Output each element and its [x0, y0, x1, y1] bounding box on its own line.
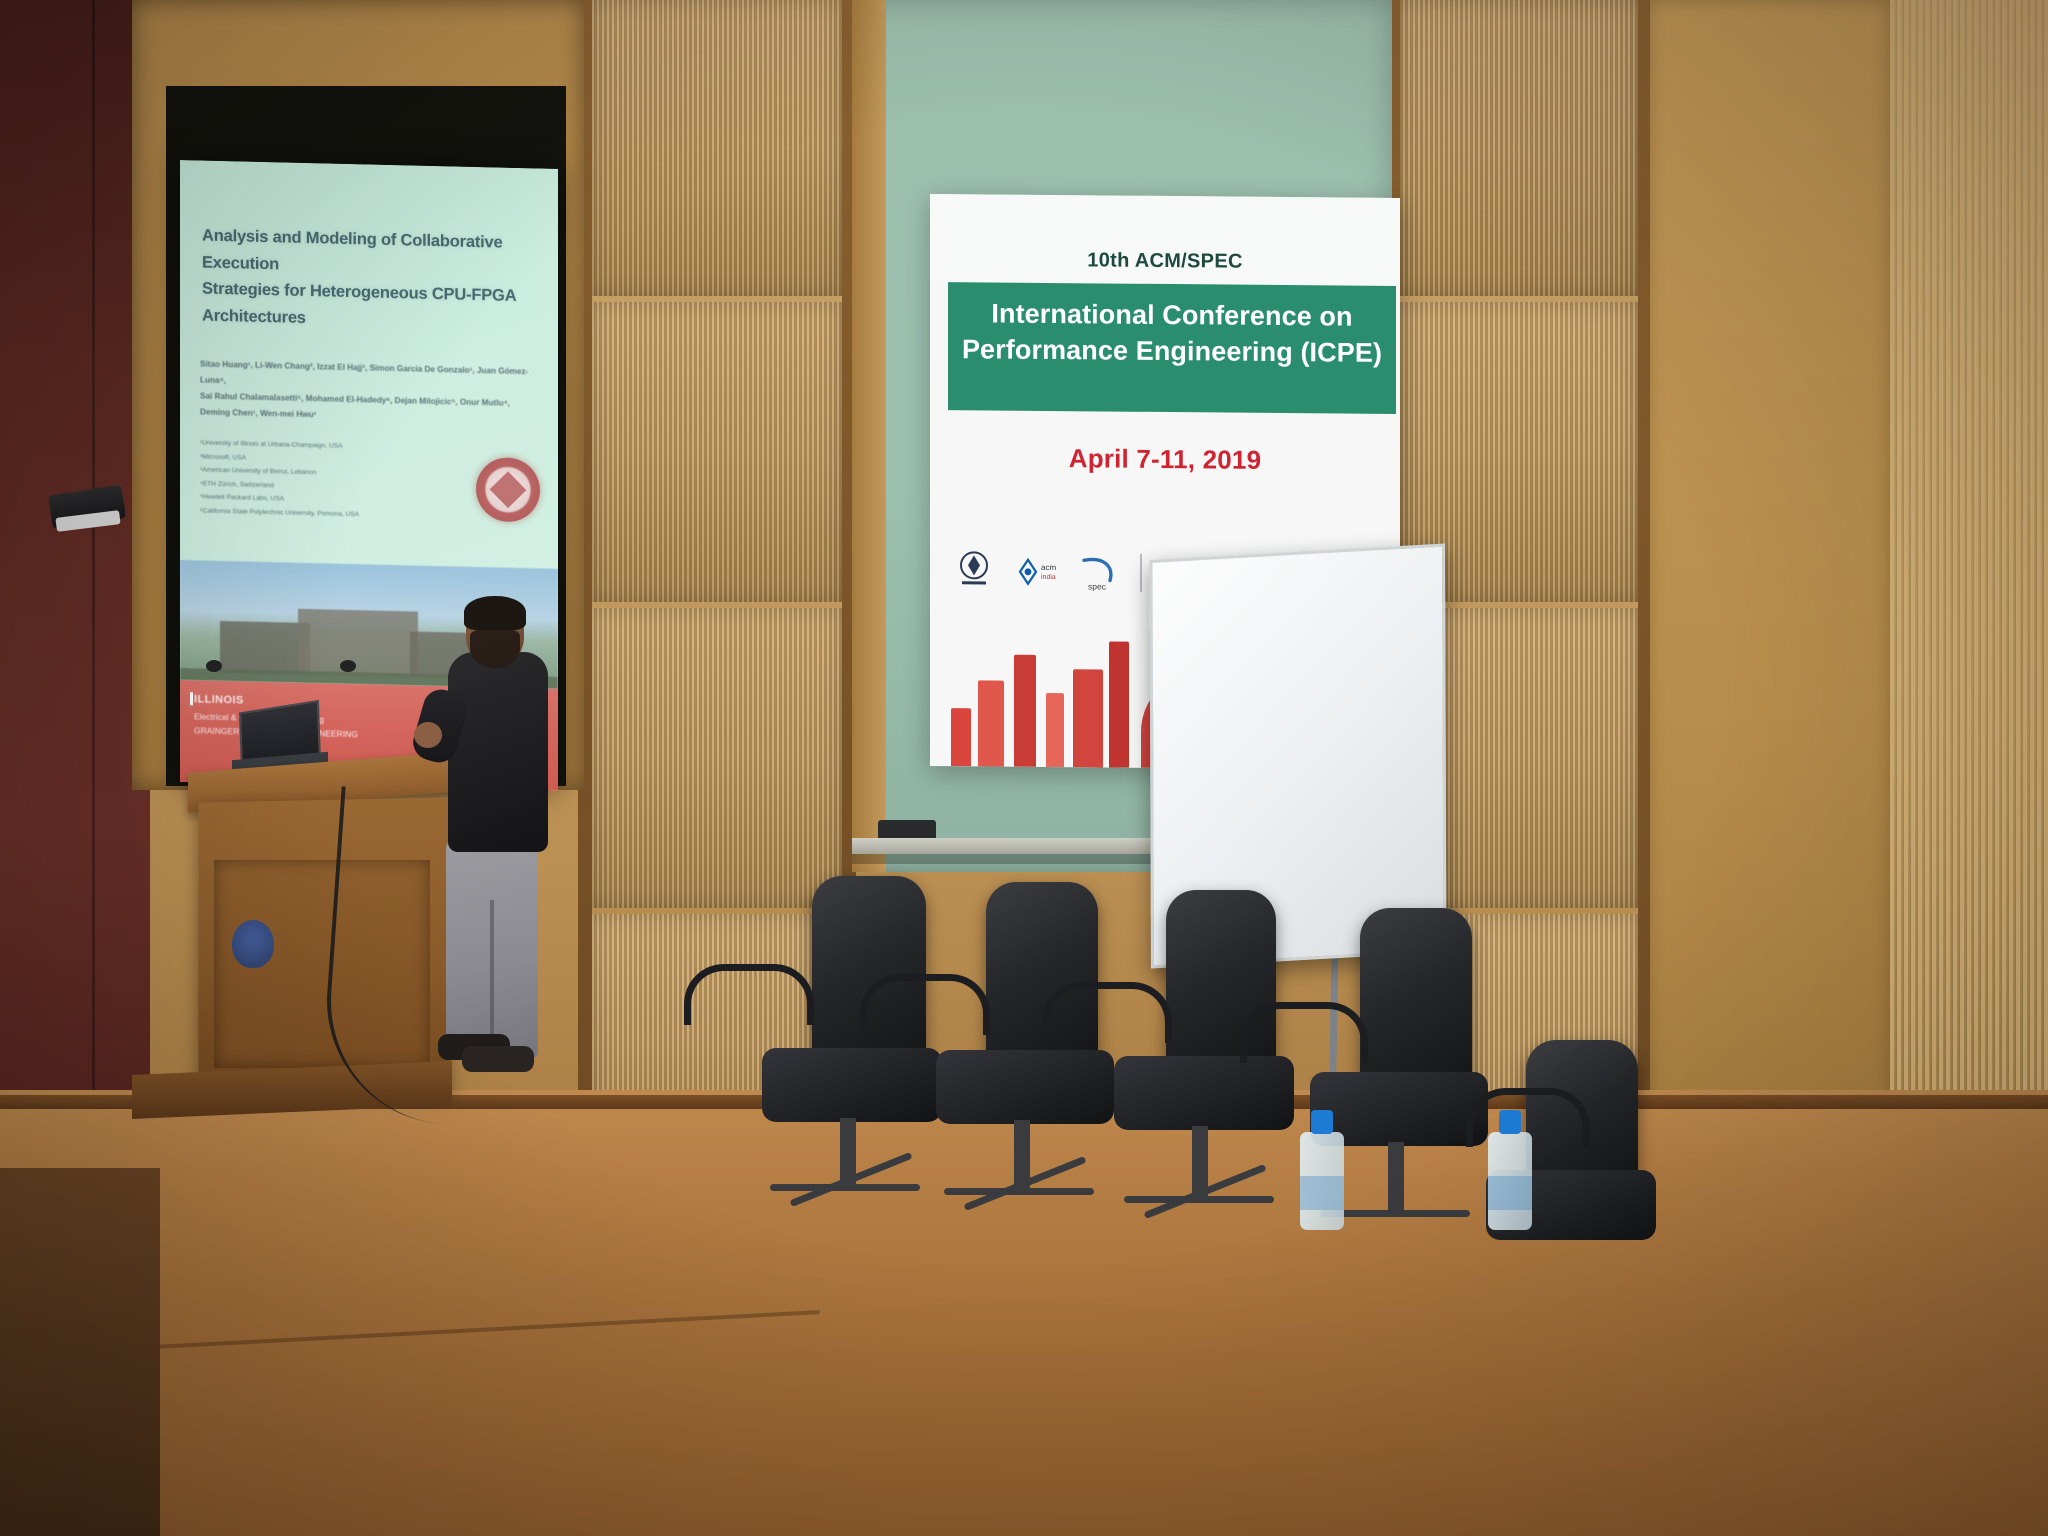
speaker-torso: [448, 652, 548, 852]
banner-title-band: International Conference on Performance …: [948, 282, 1396, 414]
wall-panel: [592, 608, 842, 908]
bottle-label: [1300, 1176, 1344, 1210]
slide-author-list: Sitao Huang¹, Li-Wen Chang², Izzat El Ha…: [200, 356, 545, 428]
speaker-shoe: [462, 1046, 534, 1072]
footer-accent-bar: [190, 692, 193, 705]
wall-panel-gap: [1638, 0, 1650, 1176]
svg-text:spec: spec: [1088, 581, 1107, 591]
bottle-cap: [1311, 1110, 1333, 1134]
water-bottle[interactable]: [1300, 1110, 1344, 1230]
banner-eyebrow: 10th ACM/SPEC: [930, 248, 1400, 275]
water-bottle[interactable]: [1488, 1110, 1532, 1230]
acm-india-logo-icon: acm india: [1008, 552, 1062, 592]
svg-text:acm: acm: [1041, 563, 1056, 572]
stage-side: [0, 1168, 160, 1536]
auditorium-scene: Analysis and Modeling of Collaborative E…: [0, 0, 2048, 1536]
banner-title: International Conference on Performance …: [948, 296, 1396, 371]
banner-frame: [852, 0, 886, 872]
wall-panel: [1398, 0, 1638, 296]
banner-title-line: Performance Engineering (ICPE): [948, 332, 1396, 372]
svg-text:india: india: [1041, 574, 1056, 581]
speaker-hand: [414, 722, 442, 748]
banner-date: April 7-11, 2019: [930, 442, 1400, 477]
microphone-head: [340, 660, 356, 672]
right-ribbed-wall: [1890, 0, 2048, 1200]
institution-emblem-icon: [232, 920, 274, 968]
spec-logo-icon: spec: [1078, 552, 1124, 592]
banner-title-line: International Conference on: [948, 296, 1396, 336]
bottle-label: [1488, 1176, 1532, 1210]
wall-panel: [592, 0, 842, 296]
slide-title: Analysis and Modeling of Collaborative E…: [202, 223, 532, 338]
university-seal-icon: [476, 457, 540, 523]
microphone-head: [206, 660, 222, 672]
iit-logo-icon: [956, 549, 992, 593]
speaker-beard: [470, 630, 520, 668]
banner-top-area: 10th ACM/SPEC: [930, 194, 1400, 286]
bottle-cap: [1499, 1110, 1521, 1134]
slide-title-line: Analysis and Modeling of Collaborative E…: [202, 223, 532, 284]
wall-seam: [92, 0, 95, 1180]
wall-panel: [592, 302, 842, 602]
wall-panel: [1648, 0, 1890, 1176]
speaker-hair: [464, 596, 526, 630]
chair[interactable]: [1240, 908, 1490, 1208]
logo-separator: [1140, 554, 1142, 592]
